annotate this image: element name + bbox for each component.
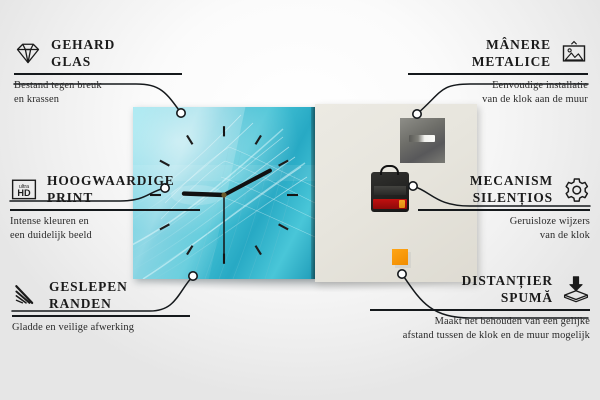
clock-mechanism — [371, 172, 409, 212]
feature-desc-line2: van de klok aan de muur — [408, 93, 588, 107]
feature-rule — [14, 73, 182, 74]
feature-head: DISTANȚIER SPUMĂ — [370, 272, 590, 306]
beveled-edges-icon — [12, 281, 40, 309]
feature-desc-line2: afstand tussen de klok en de muur mogeli… — [370, 329, 590, 343]
feature-rule — [370, 309, 590, 310]
feature-desc-line2: en krassen — [14, 93, 194, 107]
infographic-canvas: GEHARD GLAS Bestand tegen breuk en krass… — [0, 0, 600, 400]
diamond-icon — [14, 39, 42, 67]
feature-title-line1: DISTANȚIER — [462, 272, 553, 289]
feature-rule — [12, 315, 190, 316]
feature-title-line1: GEHARD — [51, 36, 115, 53]
feature-distantier-spuma: DISTANȚIER SPUMĂ Maakt het behouden van … — [370, 272, 590, 343]
spacer-arrow-icon — [562, 275, 590, 303]
feature-geslepen-randen: GESLEPEN RANDEN Gladde en veilige afwerk… — [12, 278, 202, 335]
minute-hand — [224, 171, 270, 195]
feature-desc: Maakt het behouden van een gelijke afsta… — [370, 315, 590, 344]
feature-desc-line1: Eenvoudige installatie — [408, 79, 588, 93]
feature-head: MÂNERE METALICE — [408, 36, 588, 70]
feature-title-line2: PRINT — [47, 189, 175, 206]
clock-tick — [256, 135, 262, 144]
battery — [373, 199, 407, 209]
feature-desc: Bestand tegen breuk en krassen — [14, 79, 194, 108]
feature-title: MÂNERE METALICE — [472, 36, 551, 70]
feature-desc-line1: Bestand tegen breuk — [14, 79, 194, 93]
feature-head: MECANISM SILENȚIOS — [418, 172, 590, 206]
feature-desc-line2: van de klok — [418, 229, 590, 243]
metal-hanger-plate — [400, 118, 445, 163]
feature-desc-line1: Gladde en veilige afwerking — [12, 321, 202, 335]
clock-tick — [187, 246, 193, 255]
mechanism-bail — [380, 165, 399, 175]
clock-tick — [187, 135, 193, 144]
feature-desc: Geruisloze wijzers van de klok — [418, 215, 590, 244]
feature-title: MECANISM SILENȚIOS — [470, 172, 553, 206]
gear-icon — [562, 175, 590, 203]
feature-title-line2: METALICE — [472, 53, 551, 70]
clock-tick — [160, 161, 170, 166]
feature-desc: Gladde en veilige afwerking — [12, 321, 202, 335]
feature-rule — [408, 73, 588, 74]
feature-head: GEHARD GLAS — [14, 36, 194, 70]
feature-title-line2: RANDEN — [49, 295, 128, 312]
feature-desc: Intense kleuren en een duidelijk beeld — [10, 215, 210, 244]
feature-gehard-glas: GEHARD GLAS Bestand tegen breuk en krass… — [14, 36, 194, 107]
clock-center-cap — [221, 192, 226, 197]
feature-title-line2: GLAS — [51, 53, 115, 70]
feature-desc-line1: Intense kleuren en — [10, 215, 210, 229]
feature-title-line1: MECANISM — [470, 172, 553, 189]
feature-head: GESLEPEN RANDEN — [12, 278, 202, 312]
feature-title-line2: SPUMĂ — [462, 289, 553, 306]
clock-tick — [256, 246, 262, 255]
feature-title-line2: SILENȚIOS — [470, 189, 553, 206]
clock-tick — [279, 224, 289, 229]
feature-title: GEHARD GLAS — [51, 36, 115, 70]
feature-rule — [418, 209, 590, 210]
feature-manere-metalice: MÂNERE METALICE Eenvoudige installatie v… — [408, 36, 588, 107]
hanger-slot — [409, 135, 435, 142]
feature-title: GESLEPEN RANDEN — [49, 278, 128, 312]
foam-spacer — [392, 249, 408, 265]
feature-head: ultra HD HOOGWAARDIGE PRINT — [10, 172, 210, 206]
feature-desc-line1: Maakt het behouden van een gelijke — [370, 315, 590, 329]
clock-tick — [279, 161, 289, 166]
picture-frame-hanger-icon — [560, 39, 588, 67]
mechanism-band — [374, 186, 406, 195]
feature-desc: Eenvoudige installatie van de klok aan d… — [408, 79, 588, 108]
ultra-hd-icon-bottom-text: HD — [17, 188, 31, 198]
feature-desc-line2: een duidelijk beeld — [10, 229, 210, 243]
feature-hoogwaardige-print: ultra HD HOOGWAARDIGE PRINT Intense kleu… — [10, 172, 210, 243]
feature-rule — [10, 209, 200, 210]
feature-title-line1: GESLEPEN — [49, 278, 128, 295]
feature-mecanism-silentios: MECANISM SILENȚIOS Geruisloze wijzers va… — [418, 172, 590, 243]
feature-title: HOOGWAARDIGE PRINT — [47, 172, 175, 206]
feature-title-line1: MÂNERE — [472, 36, 551, 53]
feature-title-line1: HOOGWAARDIGE — [47, 172, 175, 189]
feature-desc-line1: Geruisloze wijzers — [418, 215, 590, 229]
feature-title: DISTANȚIER SPUMĂ — [462, 272, 553, 306]
ultra-hd-icon: ultra HD — [10, 175, 38, 203]
